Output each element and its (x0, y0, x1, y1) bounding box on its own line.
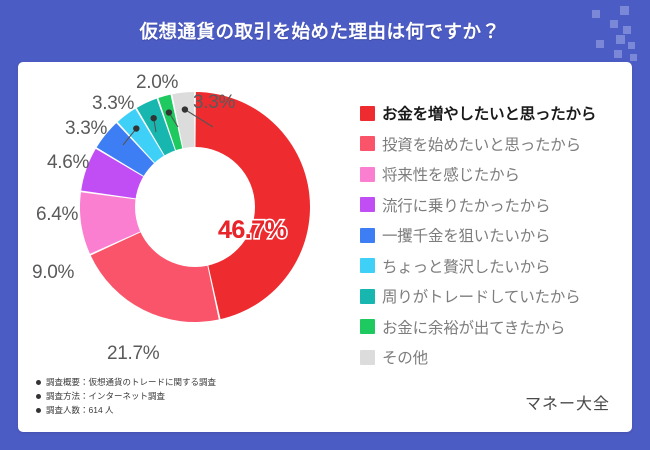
legend-label-5: ちょっと贅沢したいから (382, 255, 550, 277)
note-text-2: 調査人数：614 人 (46, 404, 114, 416)
legend-swatch-3 (360, 197, 375, 212)
legend-label-4: 一攫千金を狙いたいから (382, 224, 550, 246)
slice-label-cyan: 3.3% (65, 118, 107, 140)
legend-item-2[interactable]: 将来性を感じたから (360, 159, 632, 190)
legend-swatch-2 (360, 167, 375, 182)
slice-label-pink: 9.0% (32, 262, 74, 284)
bullet-icon (36, 394, 41, 399)
slice-label-blue: 4.6% (47, 152, 89, 174)
legend-item-8[interactable]: その他 (360, 342, 632, 373)
page-title: 仮想通貨の取引を始めた理由は何ですか？ (0, 0, 650, 62)
slice-label-other: 3.3% (193, 92, 235, 114)
legend-label-7: お金に余裕が出てきたから (382, 316, 565, 338)
slice-label-salmon: 21.7% (107, 343, 159, 365)
chart-legend: お金を増やしたいと思ったから 投資を始めたいと思ったから 将来性を感じたから 流… (360, 98, 632, 373)
legend-label-2: 将来性を感じたから (382, 163, 520, 185)
legend-label-0: お金を増やしたいと思ったから (382, 102, 596, 124)
donut-svg (80, 92, 310, 322)
legend-swatch-6 (360, 289, 375, 304)
slice-label-teal: 3.3% (92, 93, 134, 115)
slice-label-main-fill: 46.7% (218, 216, 286, 245)
legend-label-1: 投資を始めたいと思ったから (382, 133, 581, 155)
donut-center-hole (135, 147, 255, 267)
content-card: 2.0% 3.3% 3.3% 3.3% 4.6% 6.4% 9.0% 21.7%… (18, 62, 632, 432)
legend-label-3: 流行に乗りたかったから (382, 194, 550, 216)
note-text-0: 調査概要：仮想通貨のトレードに関する調査 (46, 376, 216, 388)
legend-swatch-1 (360, 136, 375, 151)
legend-item-5[interactable]: ちょっと贅沢したいから (360, 251, 632, 282)
decorative-squares (590, 4, 644, 60)
slice-label-green: 2.0% (136, 72, 178, 94)
legend-swatch-4 (360, 228, 375, 243)
legend-item-4[interactable]: 一攫千金を狙いたいから (360, 220, 632, 251)
legend-item-3[interactable]: 流行に乗りたかったから (360, 190, 632, 221)
infographic-root: 仮想通貨の取引を始めた理由は何ですか？ (0, 0, 650, 450)
legend-swatch-8 (360, 350, 375, 365)
legend-label-6: 周りがトレードしていたから (382, 285, 580, 307)
legend-swatch-0 (360, 106, 375, 121)
legend-label-8: その他 (382, 346, 428, 368)
legend-item-1[interactable]: 投資を始めたいと思ったから (360, 129, 632, 160)
donut-chart: 2.0% 3.3% 3.3% 3.3% 4.6% 6.4% 9.0% 21.7%… (18, 70, 363, 380)
survey-notes: 調査概要：仮想通貨のトレードに関する調査 調査方法：インターネット調査 調査人数… (36, 376, 216, 418)
legend-item-0[interactable]: お金を増やしたいと思ったから (360, 98, 632, 129)
note-row-1: 調査方法：インターネット調査 (36, 390, 216, 402)
header-bar: 仮想通貨の取引を始めた理由は何ですか？ (0, 0, 650, 62)
note-row-2: 調査人数：614 人 (36, 404, 216, 416)
note-text-1: 調査方法：インターネット調査 (46, 390, 165, 402)
slice-label-purple: 6.4% (36, 204, 78, 226)
legend-item-6[interactable]: 周りがトレードしていたから (360, 281, 632, 312)
legend-swatch-7 (360, 319, 375, 334)
donut-graphic (80, 92, 310, 322)
legend-swatch-5 (360, 258, 375, 273)
note-row-0: 調査概要：仮想通貨のトレードに関する調査 (36, 376, 216, 388)
legend-item-7[interactable]: お金に余裕が出てきたから (360, 312, 632, 343)
bullet-icon (36, 408, 41, 413)
bullet-icon (36, 380, 41, 385)
brand-logo: マネー大全 (525, 390, 610, 414)
